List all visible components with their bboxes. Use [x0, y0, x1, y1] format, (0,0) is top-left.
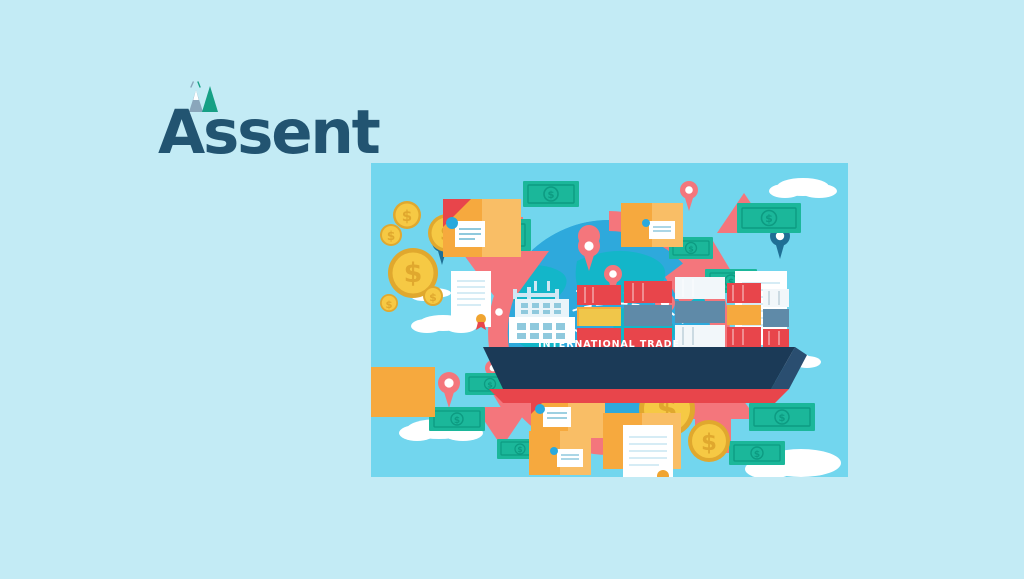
- svg-text:$: $: [404, 258, 423, 289]
- assent-wordmark: Assent: [158, 102, 379, 163]
- svg-text:$: $: [387, 229, 395, 243]
- svg-text:$: $: [688, 245, 694, 254]
- svg-text:$: $: [765, 212, 773, 225]
- page-canvas: Assent: [0, 0, 1024, 579]
- svg-text:$: $: [386, 300, 393, 311]
- svg-text:$: $: [429, 291, 437, 304]
- svg-text:$: $: [548, 190, 555, 201]
- international-trade-illustration: $ $ $ $: [371, 163, 848, 477]
- svg-text:$: $: [487, 381, 493, 390]
- assent-logo[interactable]: Assent: [158, 78, 398, 150]
- svg-text:$: $: [402, 207, 412, 225]
